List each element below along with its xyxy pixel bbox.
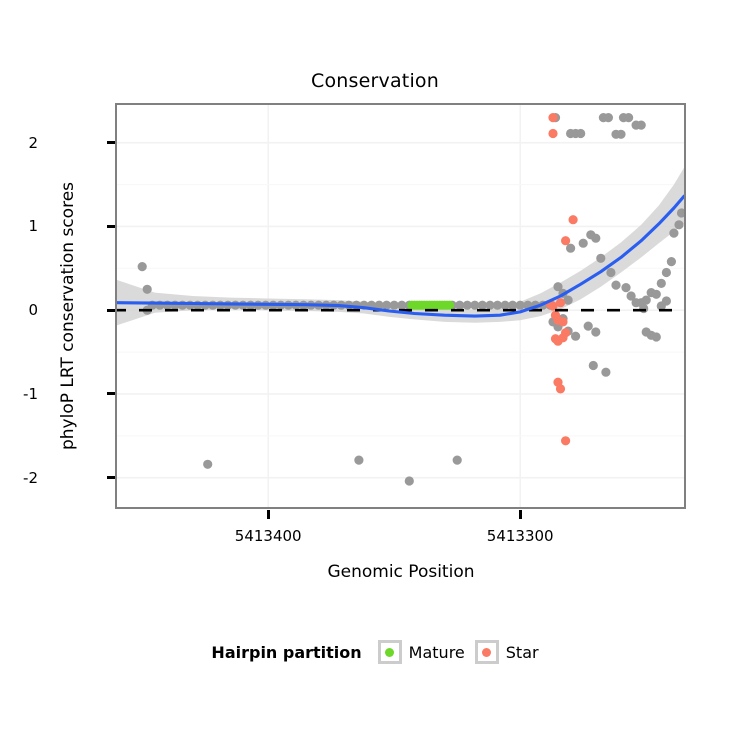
data-point [667, 257, 676, 266]
y-tick-label: 1 [0, 217, 38, 235]
data-point [576, 129, 585, 138]
data-point [662, 296, 671, 305]
x-tick-label: 5413300 [460, 527, 580, 545]
x-axis-label: Genomic Position [115, 562, 687, 582]
legend-key-star [475, 640, 499, 664]
data-point [616, 130, 625, 139]
star-dot-icon [482, 648, 491, 657]
data-point [639, 304, 648, 313]
data-point [354, 456, 363, 465]
data-point [652, 290, 661, 299]
data-point [548, 129, 557, 138]
data-point [569, 215, 578, 224]
data-point [445, 301, 454, 310]
legend-label-star: Star [506, 643, 539, 662]
data-point [558, 317, 567, 326]
legend-key-mature [378, 640, 402, 664]
data-point [203, 460, 212, 469]
data-point [566, 244, 575, 253]
data-point [561, 436, 570, 445]
data-point [657, 279, 666, 288]
data-point [621, 283, 630, 292]
data-point [556, 298, 565, 307]
data-point [604, 113, 613, 122]
data-point [674, 220, 683, 229]
legend-item-mature[interactable]: Mature [378, 640, 465, 664]
x-tick-mark [519, 510, 522, 519]
data-point [662, 268, 671, 277]
mature-dot-icon [385, 648, 394, 657]
y-tick-label: 0 [0, 301, 38, 319]
y-tick-label: -1 [0, 385, 38, 403]
legend-label-mature: Mature [409, 643, 465, 662]
data-point [601, 368, 610, 377]
data-point [589, 361, 598, 370]
data-point [669, 229, 678, 238]
data-point [591, 234, 600, 243]
data-point [453, 456, 462, 465]
y-tick-label: 2 [0, 134, 38, 152]
conservation-scatter-figure: Conservation phyloP LRT conservation sco… [0, 0, 750, 750]
data-point [596, 254, 605, 263]
data-point [606, 268, 615, 277]
data-point [637, 121, 646, 130]
x-tick-mark [267, 510, 270, 519]
data-point [584, 322, 593, 331]
y-axis-label: phyloP LRT conservation scores [58, 106, 78, 526]
data-point [579, 239, 588, 248]
page-title: Conservation [0, 70, 750, 92]
data-point [556, 384, 565, 393]
legend: Hairpin partition Mature Star [0, 640, 750, 664]
legend-item-star[interactable]: Star [475, 640, 539, 664]
series-mature [407, 301, 454, 310]
data-point [571, 332, 580, 341]
plot-panel [115, 103, 686, 509]
y-tick-mark [107, 392, 115, 395]
y-tick-mark [107, 476, 115, 479]
data-point [611, 281, 620, 290]
data-point [138, 262, 147, 271]
plot-canvas [117, 105, 684, 507]
y-tick-mark [107, 141, 115, 144]
legend-title: Hairpin partition [211, 643, 361, 662]
data-point [652, 332, 661, 341]
data-point [591, 327, 600, 336]
y-tick-mark [107, 309, 115, 312]
data-point [548, 113, 557, 122]
x-tick-label: 5413400 [208, 527, 328, 545]
data-point [642, 296, 651, 305]
y-tick-mark [107, 225, 115, 228]
data-point [624, 113, 633, 122]
data-point [405, 476, 414, 485]
data-point [558, 333, 567, 342]
data-point [561, 236, 570, 245]
y-tick-label: -2 [0, 469, 38, 487]
data-point [143, 285, 152, 294]
